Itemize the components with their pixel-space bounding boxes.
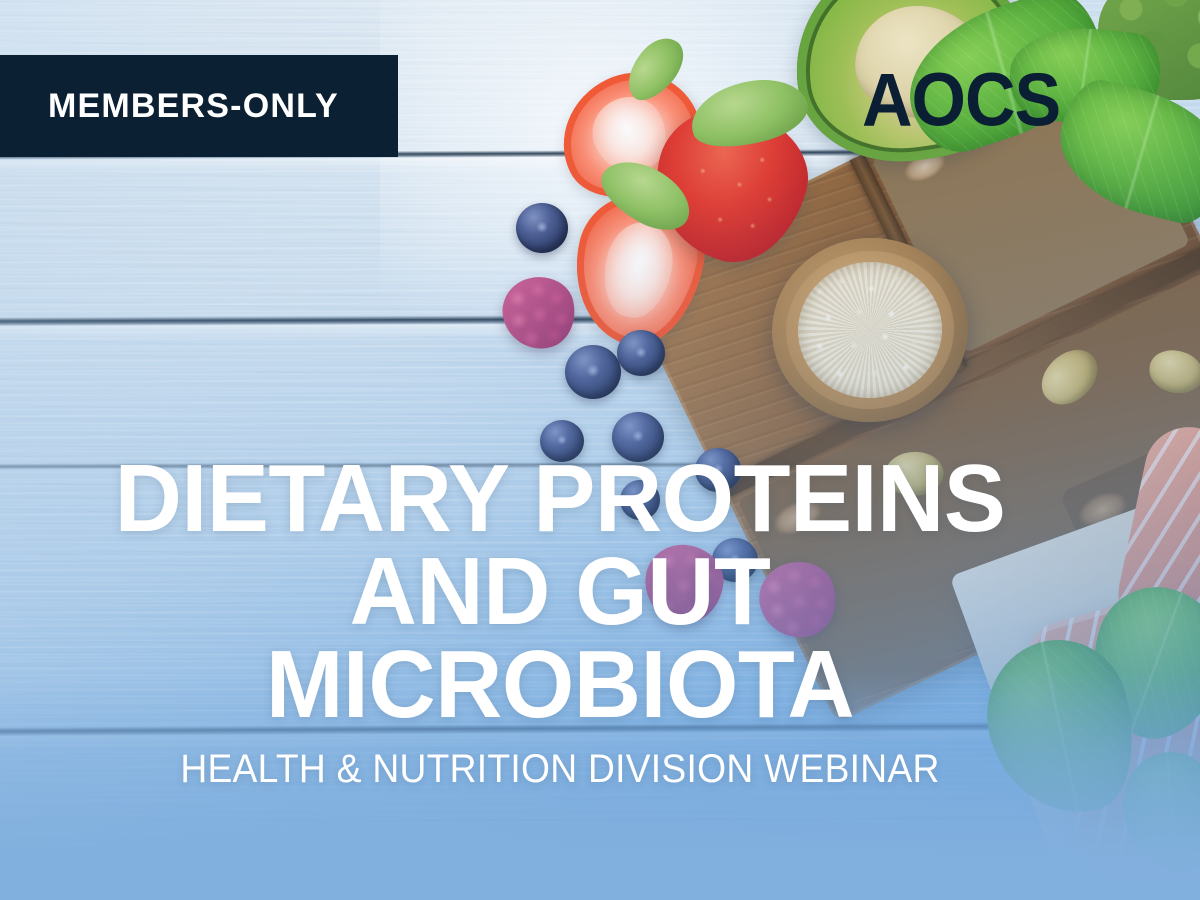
- blueberry: [620, 480, 660, 520]
- blueberry: [565, 345, 621, 399]
- blueberry: [612, 412, 664, 462]
- members-only-label: MEMBERS-ONLY: [0, 89, 339, 123]
- aocs-logo: AOCS: [862, 62, 1060, 138]
- blueberry: [695, 448, 741, 492]
- blueberry: [516, 203, 568, 253]
- webinar-promo-poster: MEMBERS-ONLY AOCS DIETARY PROTEINS AND G…: [0, 0, 1200, 900]
- members-only-badge: MEMBERS-ONLY: [0, 55, 398, 157]
- blueberry: [540, 420, 584, 462]
- blueberry: [617, 330, 665, 376]
- strawberry-core: [596, 216, 680, 324]
